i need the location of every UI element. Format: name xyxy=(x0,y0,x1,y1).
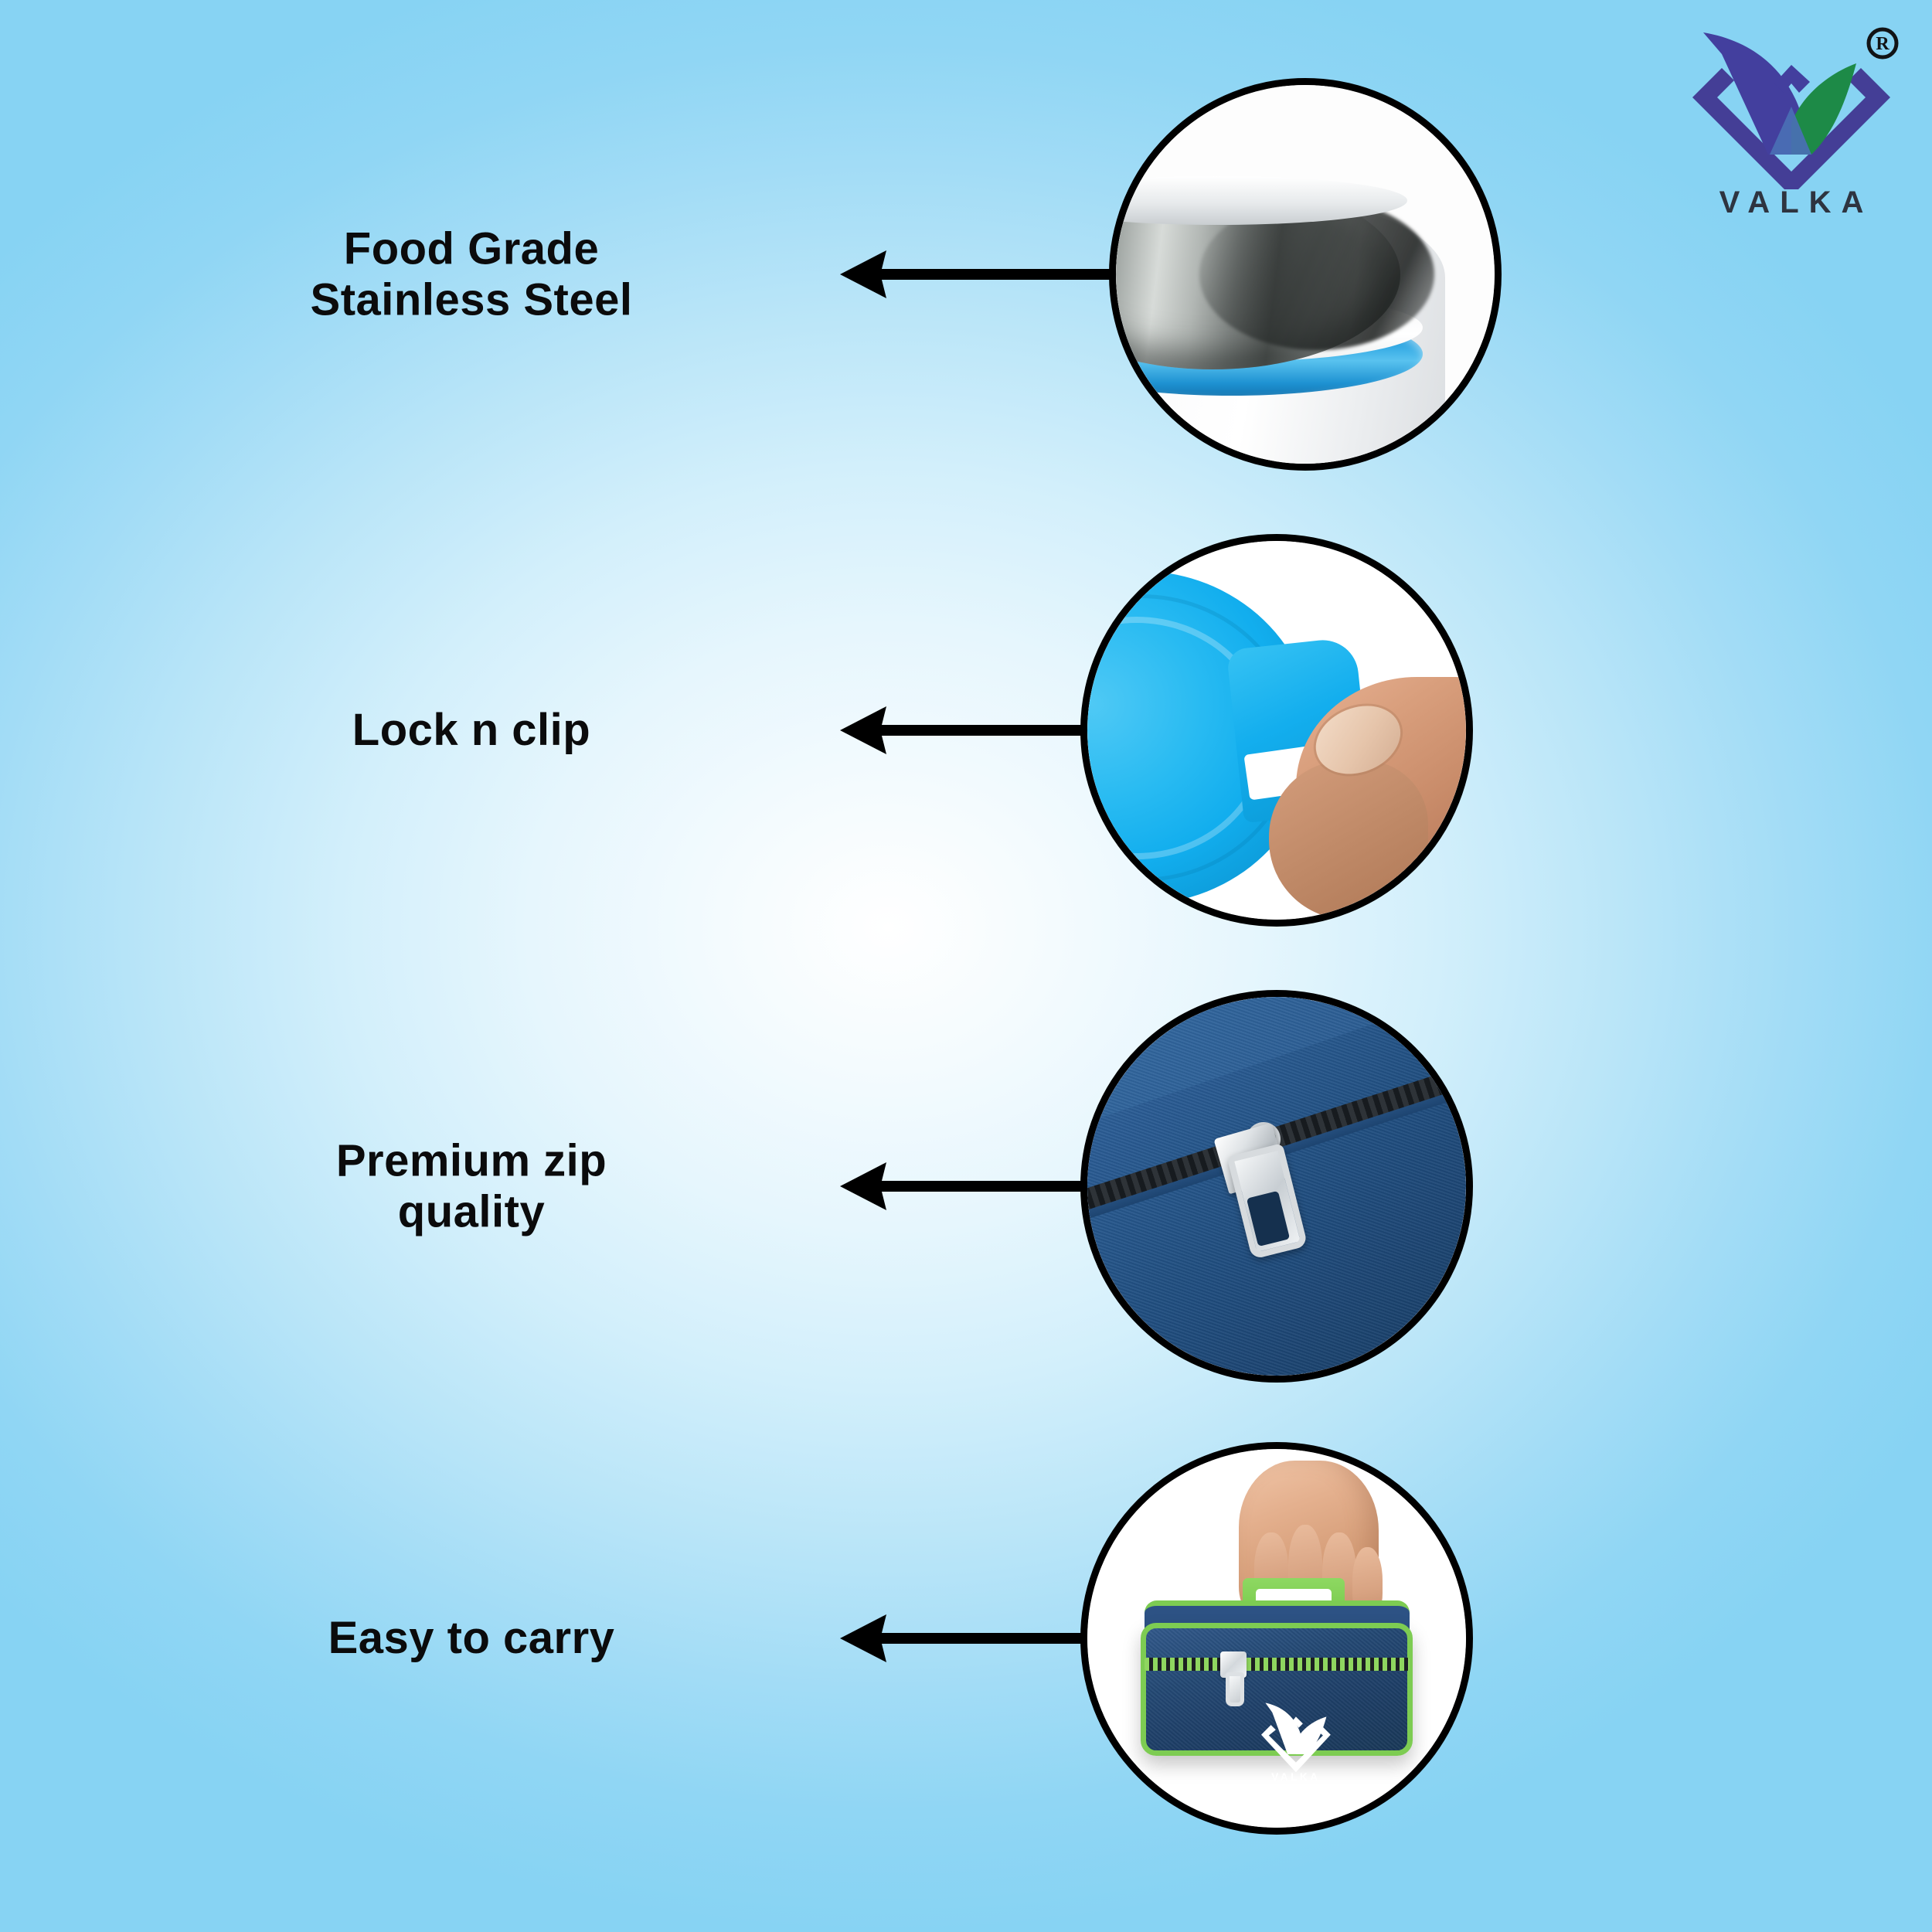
feature-photo-premium-zip-quality: Close-up of the silver metal zipper pull… xyxy=(1080,990,1473,1383)
feature-label-premium-zip-quality: Premium zip quality xyxy=(178,1135,765,1236)
feature-photo-easy-to-carry: VALKA Hand carrying the navy blue VALKA … xyxy=(1080,1442,1473,1835)
svg-text:R: R xyxy=(1876,34,1889,54)
connector-arrow-food-grade-stainless-steel xyxy=(838,240,1132,309)
feature-label-food-grade-stainless-steel: Food Grade Stainless Steel xyxy=(178,223,765,325)
feature-label-easy-to-carry: Easy to carry xyxy=(178,1613,765,1664)
feature-photo-lock-n-clip: Thumb pressing the blue plastic lock-and… xyxy=(1080,534,1473,927)
feature-label-lock-n-clip: Lock n clip xyxy=(178,705,765,756)
svg-text:VALKA: VALKA xyxy=(1271,1771,1320,1782)
feature-photo-food-grade-stainless-steel: Close-up of the stainless steel containe… xyxy=(1109,78,1502,471)
valka-logo-mark: R xyxy=(1675,23,1907,189)
feature-label-line-1: Food Grade xyxy=(178,223,765,274)
connector-arrow-easy-to-carry xyxy=(838,1604,1101,1673)
feature-label-line-2: quality xyxy=(178,1186,765,1237)
connector-arrow-lock-n-clip xyxy=(838,696,1101,765)
feature-label-line-1: Easy to carry xyxy=(178,1613,765,1664)
feature-label-line-1: Premium zip xyxy=(178,1135,765,1186)
feature-label-line-1: Lock n clip xyxy=(178,705,765,756)
feature-label-line-2: Stainless Steel xyxy=(178,274,765,325)
brand-logo: R VALKA xyxy=(1675,23,1907,255)
infographic-canvas: R VALKA Food Grade Stainless Steel Close… xyxy=(0,0,1932,1932)
brand-wordmark: VALKA xyxy=(1675,187,1907,218)
registered-trademark-icon: R xyxy=(1869,29,1896,57)
connector-arrow-premium-zip-quality xyxy=(838,1151,1101,1221)
bag-valka-logo: VALKA xyxy=(1254,1699,1338,1782)
